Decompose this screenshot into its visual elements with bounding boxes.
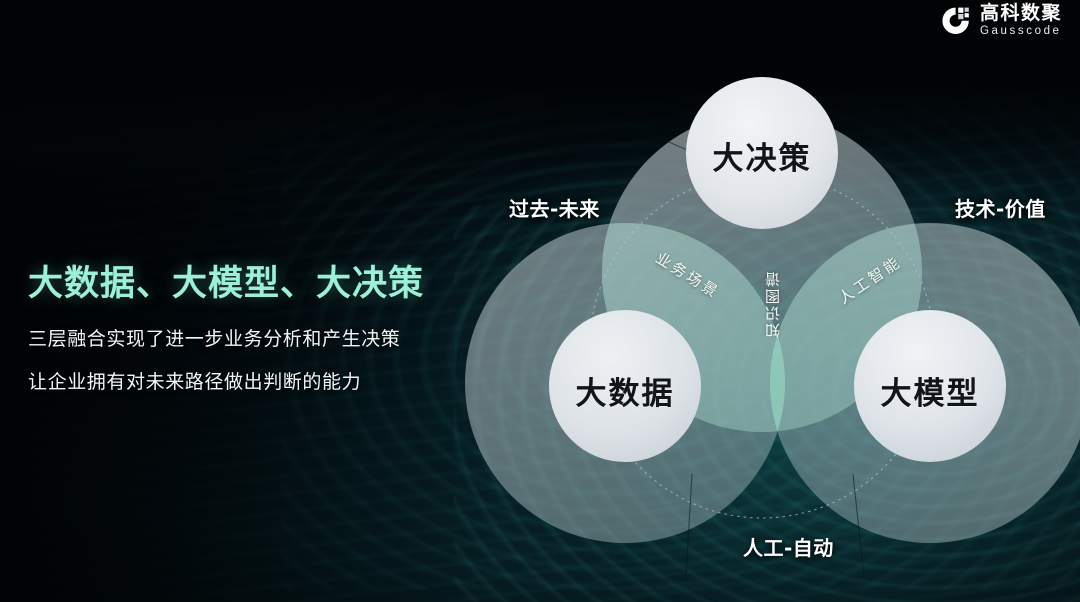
venn-core-label-bigdata: 大数据	[576, 368, 675, 413]
venn-core-label-bigmodel: 大模型	[881, 368, 980, 413]
venn-axis-label-manual-auto: 人工-自动	[743, 532, 834, 561]
venn-axis-label-past-future: 过去-未来	[509, 193, 600, 222]
page-title: 大数据、大模型、大决策	[28, 255, 458, 306]
subtitle-line-2: 让企业拥有对未来路径做出判断的能力	[28, 367, 458, 394]
subtitle-line-1: 三层融合实现了进一步业务分析和产生决策	[28, 324, 458, 351]
venn-intersection-label-knowledge-graph: 知识图谱	[762, 270, 783, 338]
gausscode-g-mark-icon	[941, 6, 971, 36]
venn-core-label-decision: 大决策	[713, 133, 812, 178]
brand-name-cn: 高科数聚	[980, 4, 1062, 23]
brand-logo-text: 高科数聚 Gausscode	[980, 4, 1062, 38]
slide-canvas: 高科数聚 Gausscode 大数据、大模型、大决策 三层融合实现了进一步业务分…	[0, 0, 1080, 602]
headline-block: 大数据、大模型、大决策 三层融合实现了进一步业务分析和产生决策 让企业拥有对未来…	[28, 255, 458, 394]
brand-logo: 高科数聚 Gausscode	[941, 4, 1062, 38]
brand-name-en: Gausscode	[980, 26, 1062, 38]
venn-axis-label-tech-value: 技术-价值	[955, 193, 1046, 222]
